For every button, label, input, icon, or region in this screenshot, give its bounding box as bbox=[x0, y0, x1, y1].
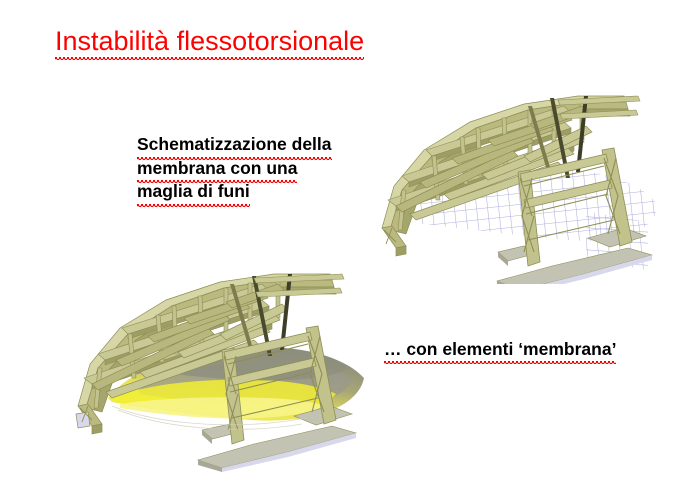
annotation-membrana-text: … con elementi ‘membrana’ bbox=[384, 338, 616, 361]
fem-cable-mesh-svg bbox=[352, 78, 688, 284]
figure-membrane-model bbox=[52, 248, 388, 472]
figure-cable-mesh-model bbox=[352, 78, 688, 284]
annotation-line-3: maglia di funi bbox=[137, 180, 250, 204]
annotation-line-1: Schematizzazione della bbox=[137, 133, 332, 157]
annotation-line-2: membrana con una bbox=[137, 157, 297, 181]
page-title: Instabilità flessotorsionale bbox=[55, 25, 364, 58]
page-title-text: Instabilità flessotorsionale bbox=[55, 25, 364, 58]
annotation-schematizzazione: Schematizzazione della membrana con una … bbox=[137, 133, 352, 204]
fem-membrane-svg bbox=[52, 248, 388, 472]
annotation-membrana: … con elementi ‘membrana’ bbox=[384, 338, 616, 361]
presentation-slide: Instabilità flessotorsionale Schematizza… bbox=[0, 0, 700, 499]
